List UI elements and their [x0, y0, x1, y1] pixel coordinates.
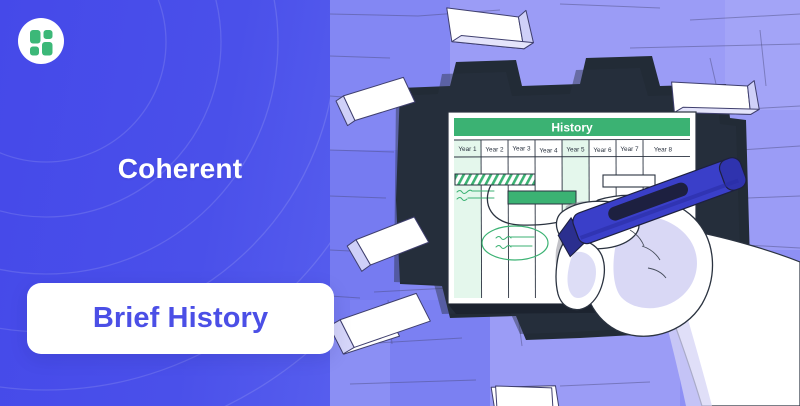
x-tick-label: Year 2: [485, 146, 504, 153]
chart-title: History: [551, 121, 593, 135]
left-content-panel: Coherent Brief History: [0, 0, 360, 406]
bar-task-b: [508, 191, 576, 204]
x-tick-label: Year 4: [539, 147, 558, 154]
brief-history-banner: History: [0, 0, 800, 406]
x-tick-label: Year 1: [458, 146, 477, 153]
illustration: History: [330, 0, 800, 406]
x-tick-label: Year 6: [593, 147, 612, 154]
chart-header: History: [454, 118, 690, 136]
grid-squares-logo-icon: [18, 18, 64, 64]
bar-task-a: [455, 174, 535, 185]
x-tick-label: Year 3: [512, 146, 531, 153]
brand-name: Coherent: [0, 155, 360, 183]
page-title: Brief History: [93, 304, 268, 333]
bar-task-c: [603, 175, 655, 187]
title-card: Brief History: [27, 283, 334, 354]
x-tick-label: Year 5: [566, 147, 585, 154]
x-tick-label: Year 8: [654, 146, 673, 153]
x-tick-label: Year 7: [620, 146, 639, 153]
